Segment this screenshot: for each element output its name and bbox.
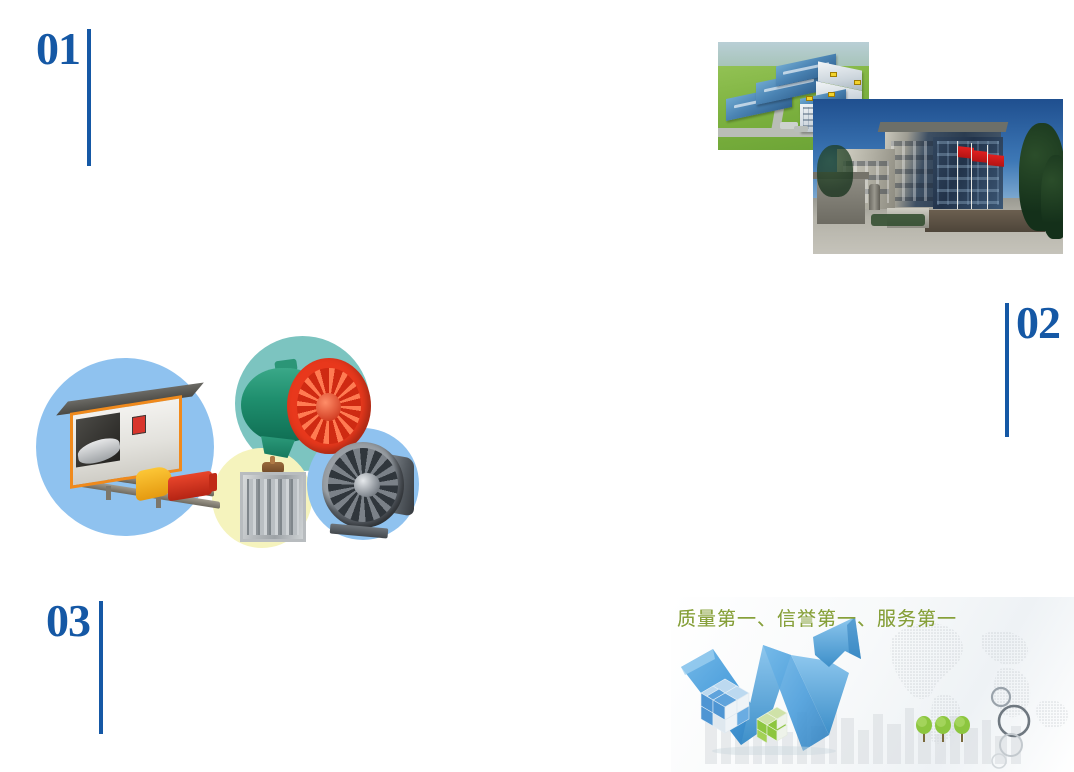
section-rule-01 [87, 29, 91, 166]
section-number-03: 03 [46, 598, 90, 644]
photo-hedge [871, 214, 925, 226]
cabinet-fan-control-panel [132, 415, 146, 435]
photo-flag-2 [972, 150, 988, 163]
aerial-tag-1 [830, 72, 837, 77]
product-cabinet-fan [60, 390, 220, 515]
section-marker-02: 02 [1005, 300, 1060, 437]
trees-graphic [916, 705, 972, 745]
photo-cylinder-tank [869, 184, 880, 210]
slogan-banner-image: 质量第一、信誉第一、服务第一 [671, 597, 1074, 772]
cabinet-fan-leg-1 [106, 486, 111, 500]
section-number-02: 02 [1016, 300, 1060, 346]
slogan-text: 质量第一、信誉第一、服务第一 [677, 604, 957, 631]
section-number-01: 01 [36, 26, 80, 72]
section-rule-03 [99, 601, 103, 734]
photo-tree-left [817, 145, 853, 197]
aerial-truck-2 [794, 126, 808, 132]
product-showcase [30, 318, 425, 548]
bubble-circles-graphic [981, 685, 1051, 769]
office-building-image [813, 99, 1063, 254]
cabinet-fan-motor [168, 471, 212, 502]
damper-blades [247, 479, 299, 535]
product-axial-fan-silver [318, 440, 418, 532]
section-marker-03: 03 [46, 598, 103, 734]
photo-roof [878, 122, 1008, 132]
page-root: 01 02 03 [0, 0, 1074, 772]
axial-silver-hub [354, 473, 380, 497]
section-marker-01: 01 [36, 26, 91, 166]
green-cube-graphic [753, 705, 793, 745]
blue-cube-cluster-graphic [693, 675, 755, 737]
product-damper-unit [236, 458, 312, 546]
photo-flag-3 [988, 154, 1004, 167]
photo-tree-right-2 [1041, 155, 1063, 239]
damper-frame [240, 472, 306, 542]
section-rule-02 [1005, 303, 1009, 437]
axial-green-hub [316, 393, 341, 422]
aerial-tag-3 [828, 92, 835, 97]
aerial-tag-5 [806, 96, 813, 101]
aerial-tag-2 [854, 80, 861, 85]
